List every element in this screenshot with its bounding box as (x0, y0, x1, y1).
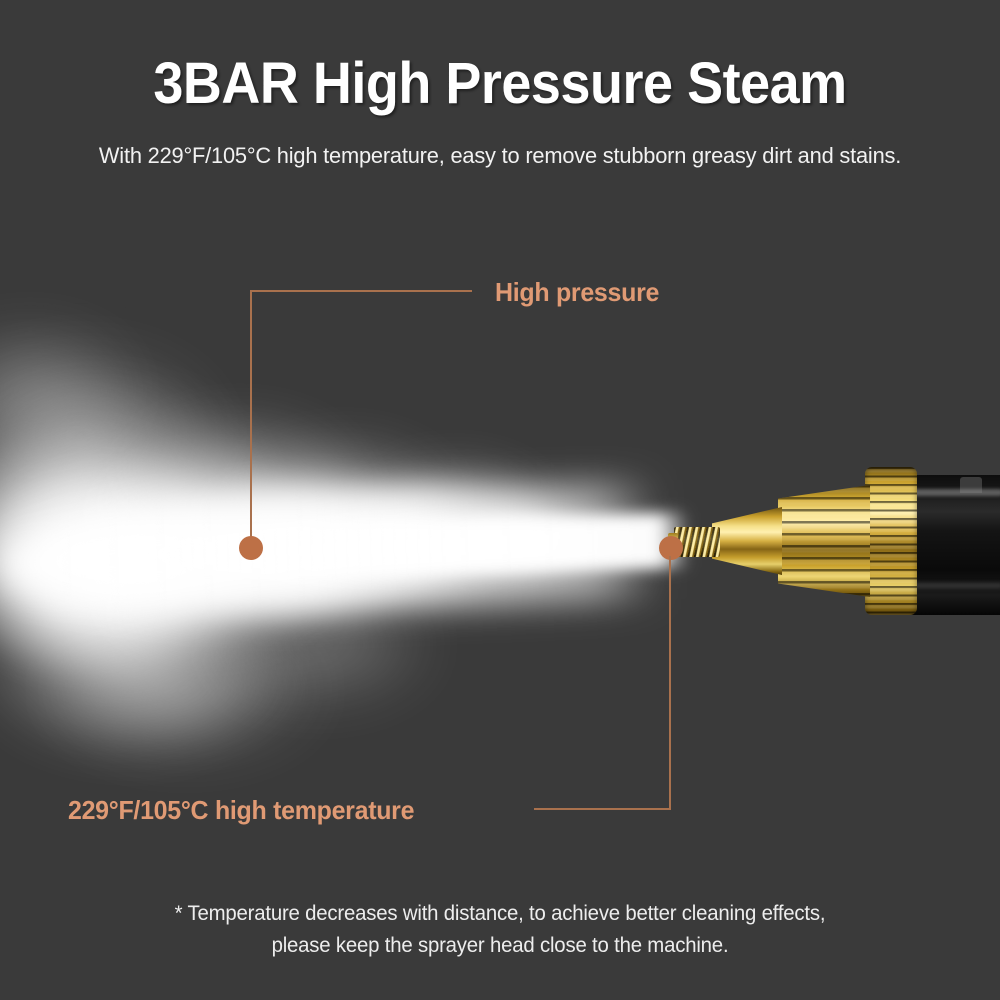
temperature-marker-dot (659, 536, 683, 560)
steam-puff (0, 460, 260, 690)
page-subtitle: With 229°F/105°C high temperature, easy … (15, 143, 985, 169)
knurled-collar (865, 467, 917, 615)
steam-jet-diffuse (0, 480, 662, 623)
steam-plume (0, 330, 720, 750)
high-pressure-leader-horizontal (250, 290, 472, 292)
steam-puff (200, 580, 440, 710)
steam-puff (40, 615, 330, 765)
steam-jet-core (149, 512, 690, 583)
tapered-cone (712, 507, 782, 575)
callout-label-high-pressure: High pressure (495, 277, 659, 308)
steam-puff (360, 460, 550, 565)
callout-label-temperature: 229°F/105°C high temperature (68, 795, 414, 826)
temperature-leader-vertical (669, 556, 671, 809)
steam-puff (300, 480, 510, 600)
ribbed-barrel (778, 485, 870, 597)
page-title: 3BAR High Pressure Steam (35, 50, 965, 117)
steam-puff (0, 560, 290, 760)
steam-puff (0, 340, 230, 530)
plastic-body-highlight (903, 489, 1000, 496)
steam-puff (60, 450, 350, 660)
steam-puff (0, 425, 240, 675)
plastic-body-highlight (908, 583, 1000, 588)
steam-puff (0, 380, 270, 610)
product-feature-graphic: 3BAR High Pressure Steam With 229°F/105°… (0, 0, 1000, 1000)
steam-puff (0, 320, 140, 460)
high-pressure-leader-vertical (250, 290, 252, 548)
footnote: * Temperature decreases with distance, t… (15, 898, 985, 962)
footnote-line-1: * Temperature decreases with distance, t… (15, 898, 985, 930)
steam-puff (170, 470, 430, 630)
temperature-leader-horizontal (534, 808, 671, 810)
footnote-line-2: please keep the sprayer head close to th… (15, 930, 985, 962)
brass-steam-nozzle (660, 455, 1000, 630)
pressure-marker-dot (239, 536, 263, 560)
steam-puff (230, 435, 460, 585)
steam-puff (110, 410, 370, 585)
steam-puff (430, 495, 600, 579)
